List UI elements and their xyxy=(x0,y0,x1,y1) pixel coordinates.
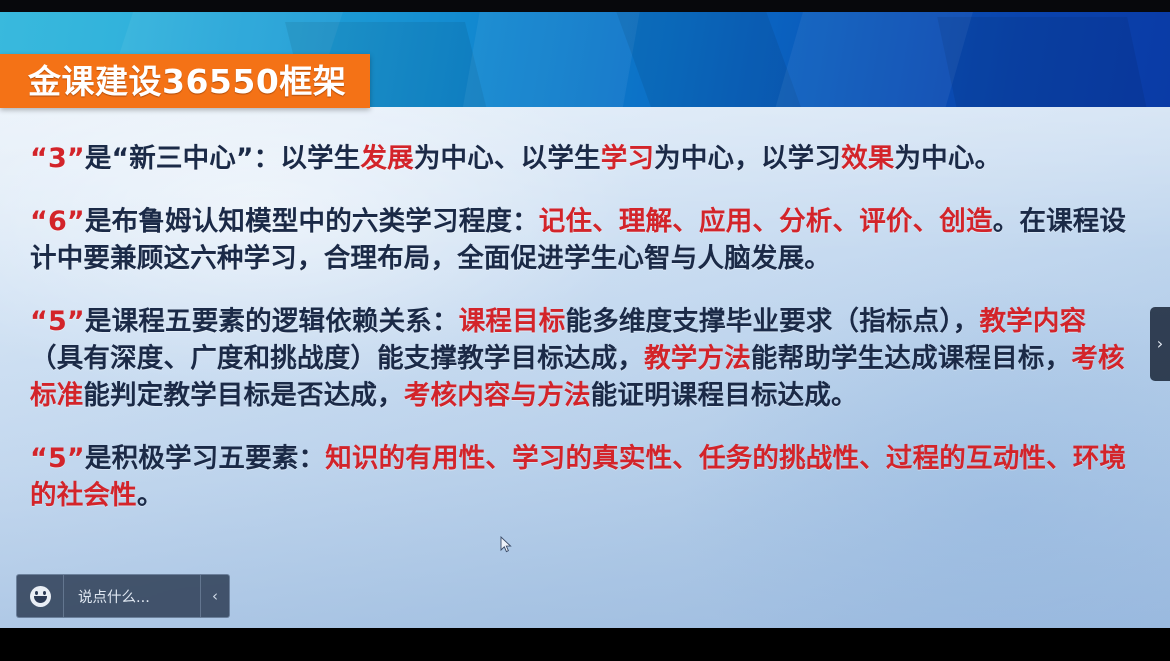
paragraph-3-seg-3: 为中心、以学生 xyxy=(414,143,601,174)
paragraph-3-seg-6: 效果 xyxy=(841,143,894,174)
page-title: 金课建设36550框架 xyxy=(28,65,346,98)
letterbox-bottom xyxy=(0,628,1170,661)
paragraph-5a-seg-0: “5” xyxy=(30,306,85,337)
paragraph-5a-seg-10: 考核内容与方法 xyxy=(404,380,591,411)
comment-input-placeholder: 说点什么... xyxy=(78,586,150,607)
comment-bar-collapse-button[interactable]: ‹ xyxy=(201,575,229,617)
chevron-right-icon: › xyxy=(1157,336,1163,352)
chevron-left-icon: ‹ xyxy=(212,587,218,605)
paragraph-3-seg-5: 为中心，以学习 xyxy=(654,143,841,174)
emoji-picker-button[interactable] xyxy=(17,575,64,617)
slide-canvas: 金课建设36550框架 “3”是“新三中心”：以学生发展为中心、以学生学习为中心… xyxy=(0,12,1170,628)
paragraph-3: “3”是“新三中心”：以学生发展为中心、以学生学习为中心，以学习效果为中心。 xyxy=(30,140,1135,177)
paragraph-3-seg-7: 为中心。 xyxy=(894,143,1001,174)
paragraph-5b-seg-3: 。 xyxy=(137,480,164,511)
paragraph-5a-seg-11: 能证明课程目标达成。 xyxy=(591,380,858,411)
paragraph-5b-seg-1: 是积极学习五要素： xyxy=(85,443,325,474)
paragraph-5a-seg-6: 教学方法 xyxy=(644,343,751,374)
letterbox-top xyxy=(0,0,1170,12)
comment-input[interactable]: 说点什么... xyxy=(64,575,201,617)
paragraph-5b-seg-0: “5” xyxy=(30,443,85,474)
paragraph-6: “6”是布鲁姆认知模型中的六类学习程度：记住、理解、应用、分析、评价、创造。在课… xyxy=(30,203,1135,277)
paragraph-6-seg-1: 是布鲁姆认知模型中的六类学习程度： xyxy=(85,206,539,237)
paragraph-5a-seg-1: 是课程五要素的逻辑依赖关系： xyxy=(85,306,459,337)
facet-shape xyxy=(937,17,1153,107)
paragraph-5a-seg-7: 能帮助学生达成课程目标， xyxy=(751,343,1071,374)
panel-expand-tab[interactable]: › xyxy=(1150,307,1170,381)
paragraph-5a-seg-5: （具有深度、广度和挑战度）能支撑教学目标达成， xyxy=(30,343,644,374)
paragraph-5a-seg-9: 能判定教学目标是否达成， xyxy=(83,380,403,411)
paragraph-3-seg-2: 发展 xyxy=(360,143,413,174)
paragraph-5-course-elements: “5”是课程五要素的逻辑依赖关系：课程目标能多维度支撑毕业要求（指标点），教学内… xyxy=(30,303,1135,414)
paragraph-3-seg-1: 是“新三中心”：以学生 xyxy=(85,143,361,174)
slide-title-banner: 金课建设36550框架 xyxy=(0,54,370,108)
smiley-mouth xyxy=(34,596,47,603)
paragraph-5a-seg-2: 课程目标 xyxy=(459,306,566,337)
paragraph-3-seg-4: 学习 xyxy=(601,143,654,174)
paragraph-3-seg-0: “3” xyxy=(30,143,85,174)
paragraph-6-seg-2: 记住、理解、应用、分析、评价、创造 xyxy=(539,206,993,237)
video-player-screen: 金课建设36550框架 “3”是“新三中心”：以学生发展为中心、以学生学习为中心… xyxy=(0,0,1170,661)
facet-shape xyxy=(457,12,643,107)
smiley-icon xyxy=(30,586,51,607)
paragraph-5a-seg-4: 教学内容 xyxy=(979,306,1086,337)
paragraph-6-seg-0: “6” xyxy=(30,206,85,237)
paragraph-5a-seg-3: 能多维度支撑毕业要求（指标点）， xyxy=(566,306,980,337)
slide-content: “3”是“新三中心”：以学生发展为中心、以学生学习为中心，以学习效果为中心。 “… xyxy=(30,140,1135,540)
paragraph-5-active-learning: “5”是积极学习五要素：知识的有用性、学习的真实性、任务的挑战性、过程的互动性、… xyxy=(30,440,1135,514)
comment-bar[interactable]: 说点什么... ‹ xyxy=(16,574,230,618)
